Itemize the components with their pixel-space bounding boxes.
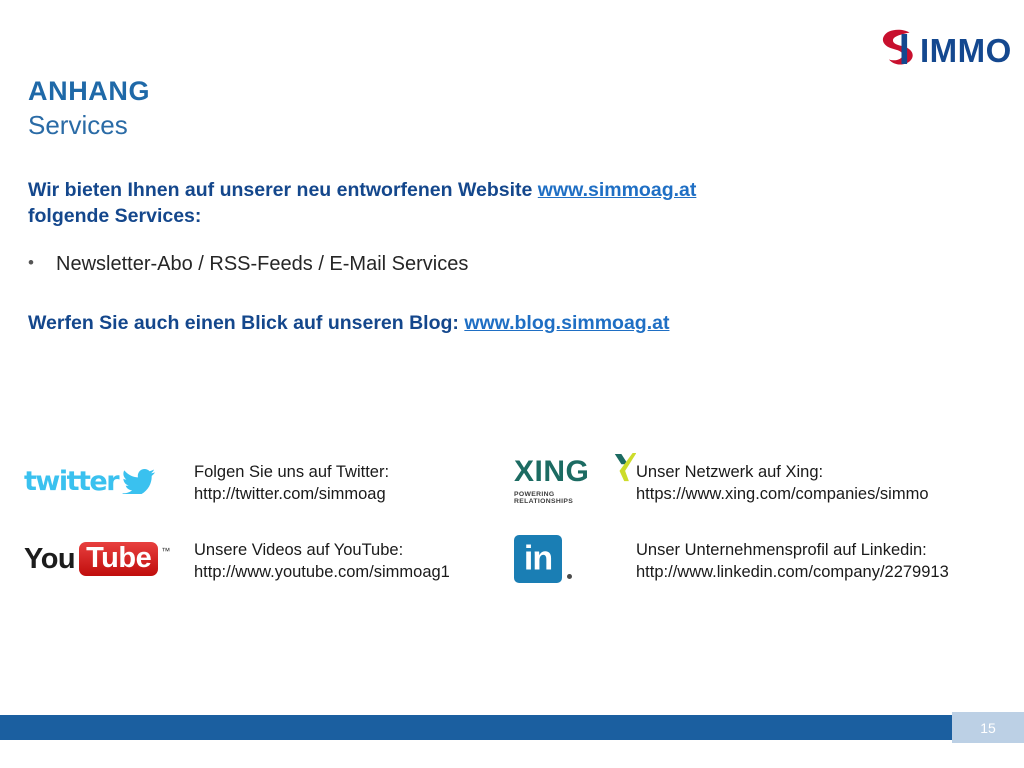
blog-paragraph: Werfen Sie auch einen Blick auf unseren … — [28, 311, 958, 337]
social-row-1: twitter Folgen Sie uns auf Twitter: http… — [24, 452, 1014, 530]
services-bullet-item: • Newsletter-Abo / RSS-Feeds / E-Mail Se… — [28, 251, 928, 277]
linkedin-dot-icon — [567, 574, 572, 579]
youtube-trademark-icon: ™ — [161, 546, 170, 556]
twitter-url: http://twitter.com/simmoag — [194, 484, 389, 506]
lead-text-before: Wir bieten Ihnen auf unserer neu entworf… — [28, 179, 538, 201]
linkedin-url: http://www.linkedin.com/company/2279913 — [636, 562, 949, 584]
twitter-wordmark: twitter — [24, 468, 118, 495]
blog-text-before: Werfen Sie auch einen Blick auf unseren … — [28, 312, 464, 334]
twitter-bird-icon — [122, 468, 156, 494]
twitter-logo: twitter — [24, 452, 194, 510]
s-swoosh-logo — [876, 25, 922, 71]
youtube-red-box: Tube — [79, 542, 158, 576]
youtube-url: http://www.youtube.com/simmoag1 — [194, 562, 450, 584]
lead-paragraph: Wir bieten Ihnen auf unserer neu entworf… — [28, 178, 958, 230]
xing-url: https://www.xing.com/companies/simmo — [636, 484, 929, 506]
twitter-caption: Folgen Sie uns auf Twitter: — [194, 462, 389, 484]
xing-x-icon — [612, 451, 636, 485]
footer-bar — [0, 715, 952, 740]
page-title: ANHANG — [28, 76, 628, 107]
page-number-box: 15 — [952, 712, 1024, 743]
youtube-caption: Unsere Videos auf YouTube: — [194, 540, 450, 562]
linkedin-wordmark: in — [514, 541, 562, 575]
xing-wordmark: XING — [514, 457, 610, 487]
youtube-text: Unsere Videos auf YouTube: http://www.yo… — [194, 530, 450, 584]
xing-text: Unser Netzwerk auf Xing: https://www.xin… — [636, 452, 929, 506]
linkedin-text: Unser Unternehmensprofil auf Linkedin: h… — [636, 530, 949, 584]
simmo-logo: IMMO — [876, 22, 1006, 74]
bullet-label: Newsletter-Abo / RSS-Feeds / E-Mail Serv… — [56, 251, 468, 277]
xing-logo: XING POWERING RELATIONSHIPS — [514, 452, 636, 510]
bullet-marker-icon: • — [28, 251, 56, 276]
social-item-linkedin[interactable]: in Unser Unternehmensprofil auf Linkedin… — [514, 530, 949, 588]
xing-caption: Unser Netzwerk auf Xing: — [636, 462, 929, 484]
logo-wordmark: IMMO — [920, 34, 1012, 67]
blog-link[interactable]: www.blog.simmoag.at — [464, 312, 669, 334]
xing-tagline: POWERING RELATIONSHIPS — [514, 491, 610, 505]
twitter-text: Folgen Sie uns auf Twitter: http://twitt… — [194, 452, 389, 506]
page-number: 15 — [980, 720, 996, 736]
social-item-twitter[interactable]: twitter Folgen Sie uns auf Twitter: http… — [24, 452, 514, 510]
page-subtitle: Services — [28, 110, 628, 141]
social-row-2: You Tube ™ Unsere Videos auf YouTube: ht… — [24, 530, 1014, 608]
social-item-xing[interactable]: XING POWERING RELATIONSHIPS Unser Netzwe… — [514, 452, 929, 510]
linkedin-badge: in — [514, 535, 562, 583]
linkedin-caption: Unser Unternehmensprofil auf Linkedin: — [636, 540, 949, 562]
youtube-wordmark-you: You — [24, 545, 75, 574]
website-link[interactable]: www.simmoag.at — [538, 179, 697, 201]
lead-text-after: folgende Services: — [28, 205, 201, 227]
linkedin-logo: in — [514, 530, 636, 588]
youtube-logo: You Tube ™ — [24, 530, 194, 588]
social-links-section: twitter Folgen Sie uns auf Twitter: http… — [24, 452, 1014, 608]
page-title-block: ANHANG Services — [28, 76, 628, 141]
youtube-wordmark-tube: Tube — [86, 542, 151, 574]
social-item-youtube[interactable]: You Tube ™ Unsere Videos auf YouTube: ht… — [24, 530, 514, 588]
